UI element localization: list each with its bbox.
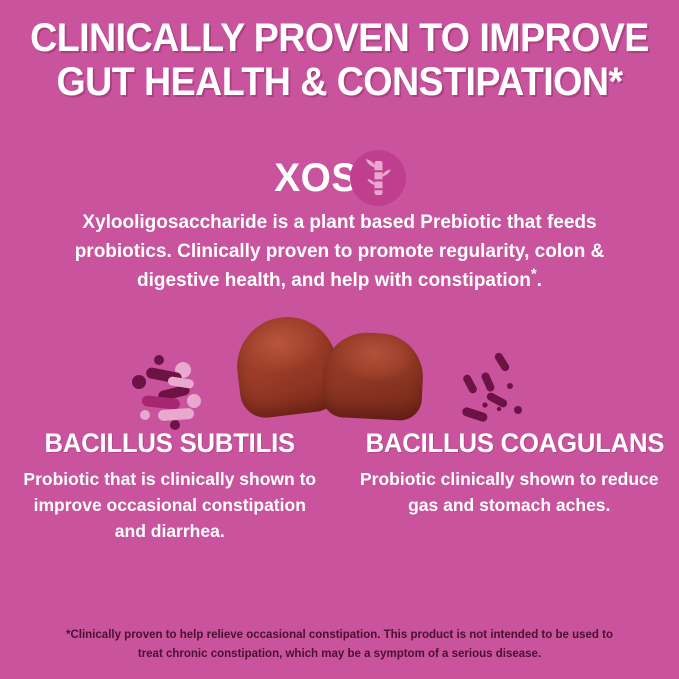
headline-line-2: GUT HEALTH & CONSTIPATION* [20,60,658,104]
headline-line-1: CLINICALLY PROVEN TO IMPROVE [20,16,658,60]
xos-description-period: . [537,270,542,291]
probiotic-text-subtilis: Probiotic that is clinically shown to im… [18,466,322,544]
bacillus-coagulans-bacteria-illustration [448,352,544,430]
disclaimer-line-2: constipation, which may be a symptom of … [211,648,541,660]
bamboo-stalk-icon [350,150,406,206]
xos-description: Xylooligosaccharide is a plant based Pre… [50,208,629,295]
xos-description-line-3: help with constipation [330,270,531,291]
gummy-dome-right [321,330,425,421]
disclaimer: *Clinically proven to help relieve occas… [55,626,624,664]
two-gummies [225,303,455,423]
probiotic-columns: BACILLUS SUBTILIS Probiotic that is clin… [0,428,679,544]
xos-heading-row: XOS [0,150,679,206]
probiotic-title-coagulans: BACILLUS COAGULANS [365,428,653,459]
page-title: CLINICALLY PROVEN TO IMPROVE GUT HEALTH … [20,16,658,104]
probiotic-title-subtilis: BACILLUS SUBTILIS [26,428,314,459]
xos-label: XOS [274,158,357,198]
probiotic-text-coagulans: Probiotic clinically shown to reduce gas… [358,466,662,518]
bacillus-subtilis-bacteria-illustration [128,352,224,430]
xos-badge [350,150,406,206]
product-benefit-infographic: CLINICALLY PROVEN TO IMPROVE GUT HEALTH … [0,0,679,679]
probiotic-column-subtilis: BACILLUS SUBTILIS Probiotic that is clin… [0,428,340,544]
probiotic-column-coagulans: BACILLUS COAGULANS Probiotic clinically … [340,428,679,544]
